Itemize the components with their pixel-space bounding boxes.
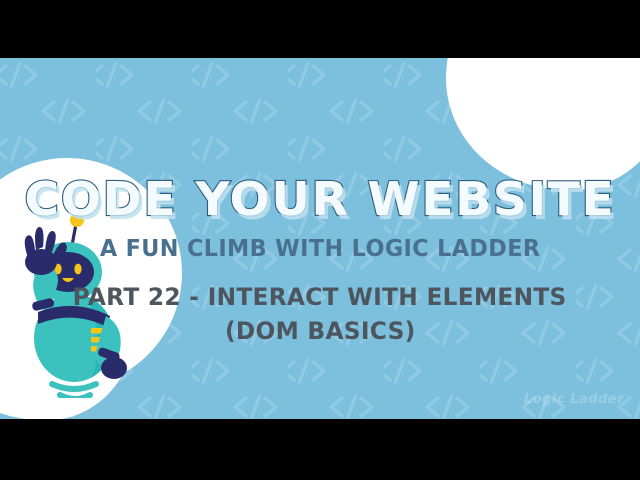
title-text-block: CODE YOUR WEBSITE A FUN CLIMB WITH LOGIC… [0, 58, 640, 419]
video-thumbnail: CODE YOUR WEBSITE A FUN CLIMB WITH LOGIC… [0, 58, 640, 419]
main-title: CODE YOUR WEBSITE [24, 176, 615, 222]
part-title: PART 22 - INTERACT WITH ELEMENTS [73, 285, 567, 309]
brand-watermark: Logic Ladder [524, 392, 624, 407]
letterbox-bar-top [0, 0, 640, 58]
part-subtitle: (DOM BASICS) [225, 319, 416, 343]
video-player: CODE YOUR WEBSITE A FUN CLIMB WITH LOGIC… [0, 0, 640, 480]
subtitle: A FUN CLIMB WITH LOGIC LADDER [100, 238, 541, 261]
letterbox-bar-bottom [0, 419, 640, 480]
